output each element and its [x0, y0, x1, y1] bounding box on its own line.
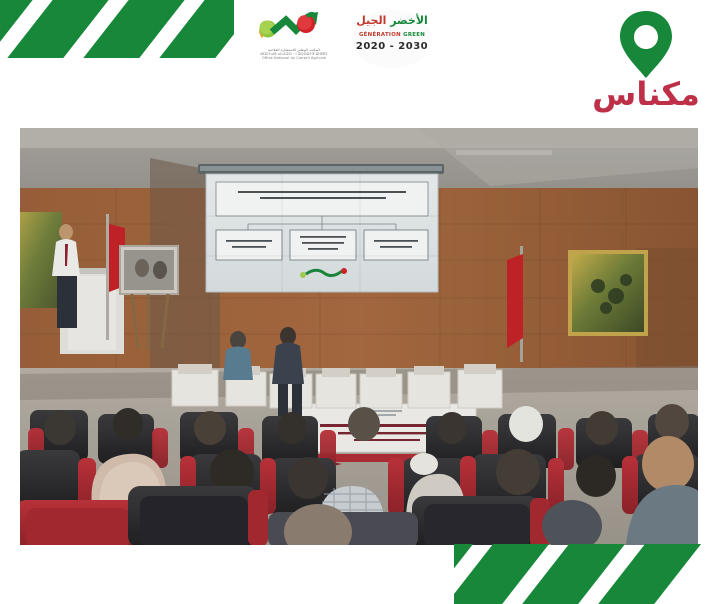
onca-logo-caption: المكتب الوطني للاستشارة الفلاحية ⵍⵎⴽⵜⴰⴱ …: [246, 48, 342, 60]
generation-green-logo: الأخضر الجيل GÉNÉRATION GREEN 2020 - 203…: [352, 10, 432, 68]
gg-sub-green: GREEN: [403, 32, 425, 38]
city-name-label: مكناس: [586, 78, 706, 110]
city-block: مكناس: [586, 6, 706, 118]
gg-sub-generation: GÉNÉRATION: [359, 32, 401, 38]
onca-logo-mark-icon: [252, 8, 336, 48]
poster-header: المكتب الوطني للاستشارة الفلاحية ⵍⵎⴽⵜⴰⴱ …: [0, 0, 720, 128]
decorative-stripes-bottom-right: [454, 544, 720, 604]
poster-page: المكتب الوطني للاستشارة الفلاحية ⵍⵎⴽⵜⴰⴱ …: [0, 0, 720, 604]
gg-title-red: الجيل: [356, 14, 386, 27]
gg-title-green: الأخضر: [390, 14, 428, 27]
generation-green-years: 2020 - 2030: [352, 41, 432, 52]
generation-green-title-ar: الأخضر الجيل: [352, 15, 432, 26]
onca-logo: المكتب الوطني للاستشارة الفلاحية ⵍⵎⴽⵜⴰⴱ …: [246, 8, 342, 72]
conference-photo: [20, 128, 698, 545]
generation-green-subtitle-fr: GÉNÉRATION GREEN: [352, 32, 432, 38]
location-pin-icon: [614, 8, 678, 80]
conference-hall-scene: [20, 128, 698, 545]
onca-caption-fr: Office National du Conseil Agricole: [246, 56, 342, 60]
